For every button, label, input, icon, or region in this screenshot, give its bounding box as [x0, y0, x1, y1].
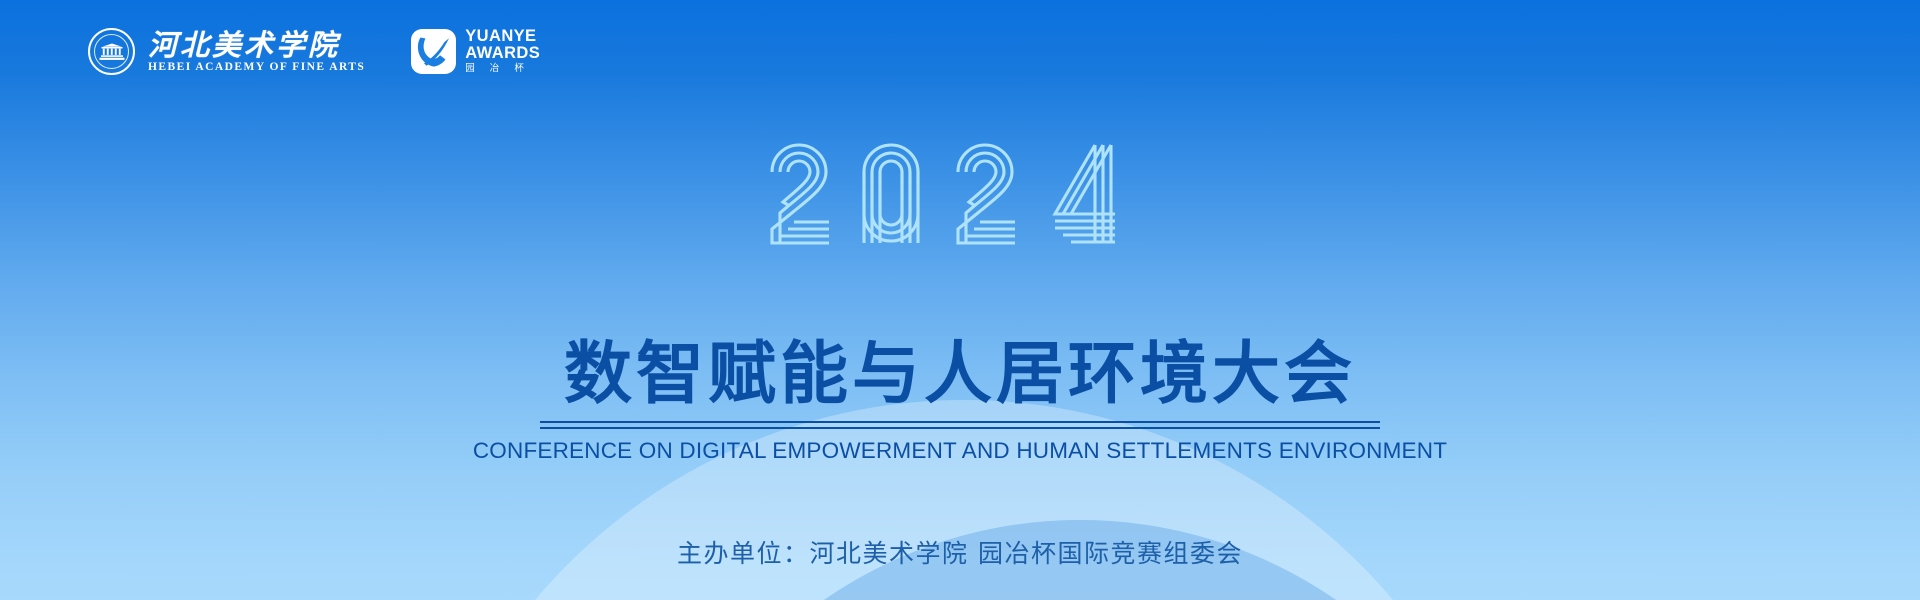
- yuanye-line-3: 园 冶 杯: [465, 63, 540, 75]
- hebei-academy-logo[interactable]: 河北美术学院 HEBEI ACADEMY OF FINE ARTS: [88, 28, 365, 75]
- page-title: 数智赋能与人居环境大会: [0, 336, 1920, 414]
- organizer-line: 主办单位：河北美术学院 园冶杯国际竞赛组委会: [0, 534, 1920, 570]
- yuanye-awards-logo[interactable]: YUANYE AWARDS 园 冶 杯: [411, 28, 540, 75]
- hebei-name-cn: 河北美术学院: [148, 30, 365, 60]
- yuanye-line-1: YUANYE: [465, 28, 540, 45]
- yuanye-awards-text: YUANYE AWARDS 园 冶 杯: [465, 28, 540, 75]
- title-divider: [540, 421, 1380, 429]
- university-crest-icon: [88, 28, 135, 75]
- yuanye-line-2: AWARDS: [465, 45, 540, 62]
- year-2024-graphic: [0, 132, 1920, 257]
- title-block: 数智赋能与人居环境大会 CONFERENCE ON DIGITAL EMPOWE…: [0, 336, 1920, 466]
- yuanye-y-mark-icon: [411, 29, 456, 74]
- logo-row: 河北美术学院 HEBEI ACADEMY OF FINE ARTS YUANYE…: [88, 28, 540, 75]
- page-subtitle: CONFERENCE ON DIGITAL EMPOWERMENT AND HU…: [0, 436, 1920, 466]
- conference-banner: 河北美术学院 HEBEI ACADEMY OF FINE ARTS YUANYE…: [0, 0, 1920, 600]
- hebei-name-en: HEBEI ACADEMY OF FINE ARTS: [148, 61, 365, 74]
- divider-line-bottom: [540, 427, 1380, 429]
- hebei-academy-text: 河北美术学院 HEBEI ACADEMY OF FINE ARTS: [148, 30, 365, 74]
